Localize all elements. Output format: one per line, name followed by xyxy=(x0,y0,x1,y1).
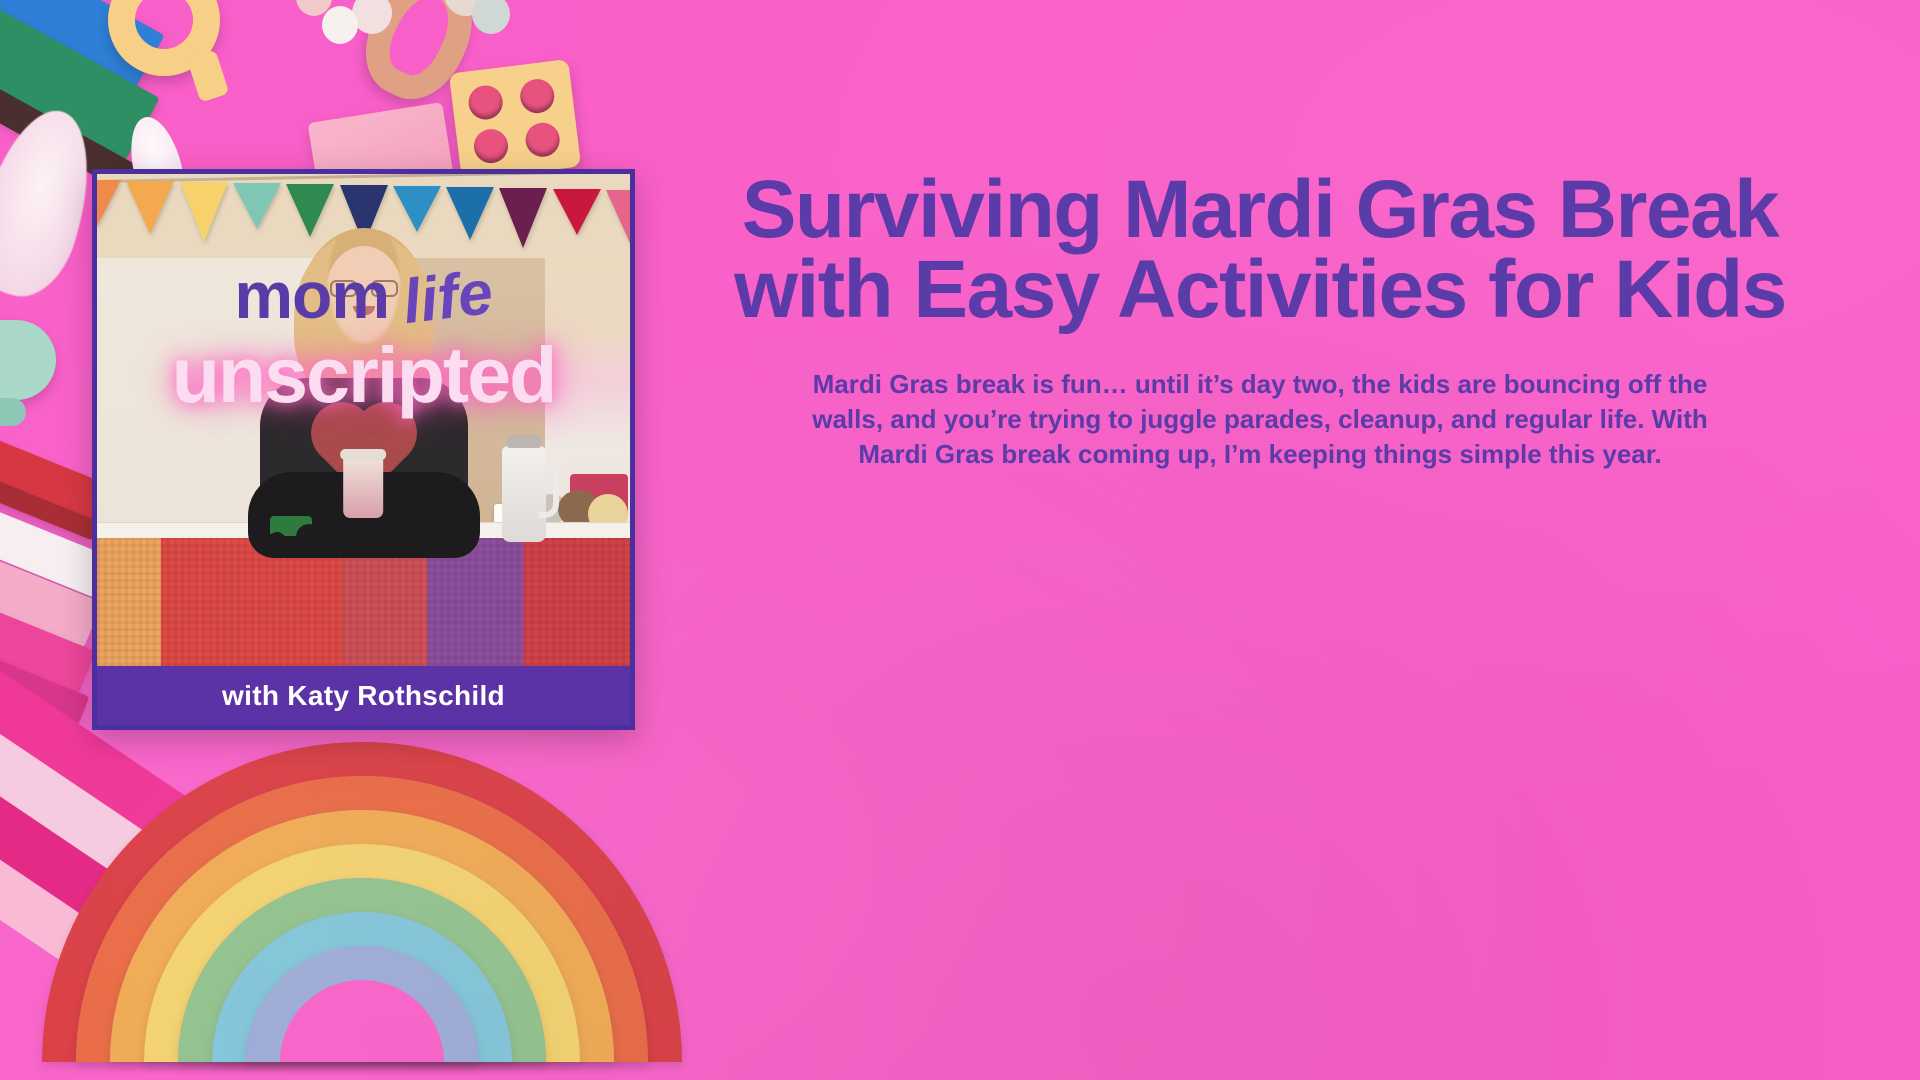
bunting-cord xyxy=(97,174,630,183)
toy-tractor xyxy=(266,514,328,550)
eyeglasses-icon xyxy=(330,280,398,297)
bunting-flag xyxy=(553,189,601,235)
host-credit-label: with Katy Rothschild xyxy=(222,680,505,712)
bunting-flag xyxy=(97,180,121,226)
tumbler-bottle xyxy=(502,446,546,542)
bunting-flag xyxy=(393,186,441,232)
bunting-flag xyxy=(126,181,174,234)
silicone-bead xyxy=(322,6,358,44)
podcast-cover-art[interactable]: momlife unscripted with Katy Rothschild xyxy=(92,169,635,730)
host-credit-banner: with Katy Rothschild xyxy=(97,666,630,725)
podcast-host-photo xyxy=(244,228,484,558)
cover-photo: momlife unscripted xyxy=(97,174,630,666)
bunting-flag xyxy=(233,183,281,229)
bunting-flag xyxy=(499,188,547,248)
mint-arc-toy xyxy=(0,398,26,426)
article-text-column: Surviving Mardi Gras Break with Easy Act… xyxy=(660,170,1860,473)
coffee-cup xyxy=(343,456,383,518)
wooden-rainbow-stacker-toy xyxy=(22,742,702,1080)
article-headline: Surviving Mardi Gras Break with Easy Act… xyxy=(660,170,1860,331)
article-body-text: Mardi Gras break is fun… until it’s day … xyxy=(660,367,1860,473)
mint-arc-toy xyxy=(0,320,56,400)
bunting-flag xyxy=(606,190,630,243)
wooden-peg-board-toy xyxy=(449,59,581,181)
silicone-bead xyxy=(472,0,510,34)
bunting-flag xyxy=(180,182,228,242)
